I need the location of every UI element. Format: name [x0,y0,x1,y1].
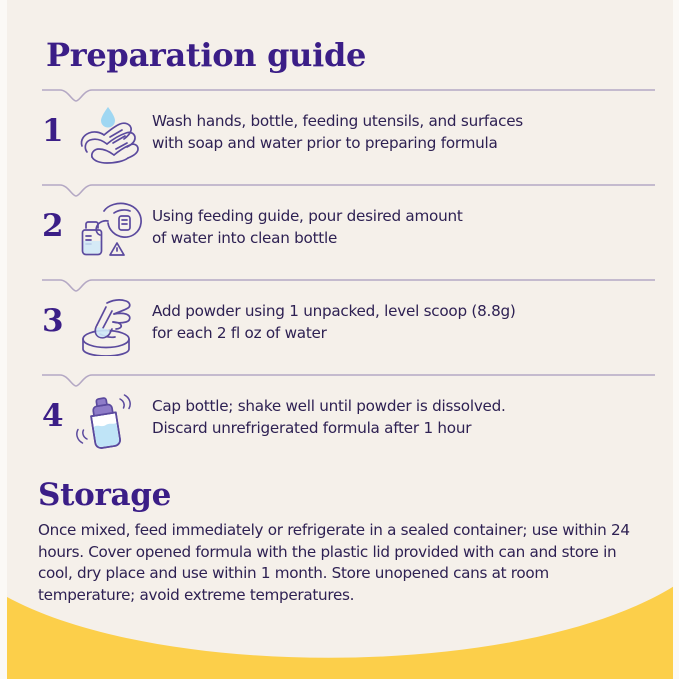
measuring-pitcher-bottle-icon [70,199,148,261]
storage-title: Storage [38,477,171,513]
step-item: 2 [0,183,679,278]
scoop-powder-can-icon [70,294,148,356]
step-divider [42,278,655,294]
step-divider [42,183,655,199]
step-text: Using feeding guide, pour desired amount… [152,199,655,249]
step-text: Cap bottle; shake well until powder is d… [152,389,655,439]
step-number: 4 [42,389,68,443]
hands-washing-icon [70,104,148,166]
step-item: 4 [0,373,679,468]
step-divider [42,88,655,104]
shaking-bottle-icon [70,389,148,451]
step-item: 3 [0,278,679,373]
steps-list: 1 [0,88,679,468]
step-number: 2 [42,199,68,253]
step-item: 1 [0,88,679,183]
step-text: Wash hands, bottle, feeding utensils, an… [152,104,655,154]
step-text: Add powder using 1 unpacked, level scoop… [152,294,655,344]
page-title: Preparation guide [46,36,366,74]
preparation-guide-panel: Preparation guide 1 [0,0,679,679]
step-divider [42,373,655,389]
step-number: 3 [42,294,68,348]
step-number: 1 [42,104,68,158]
storage-text: Once mixed, feed immediately or refriger… [38,520,630,606]
